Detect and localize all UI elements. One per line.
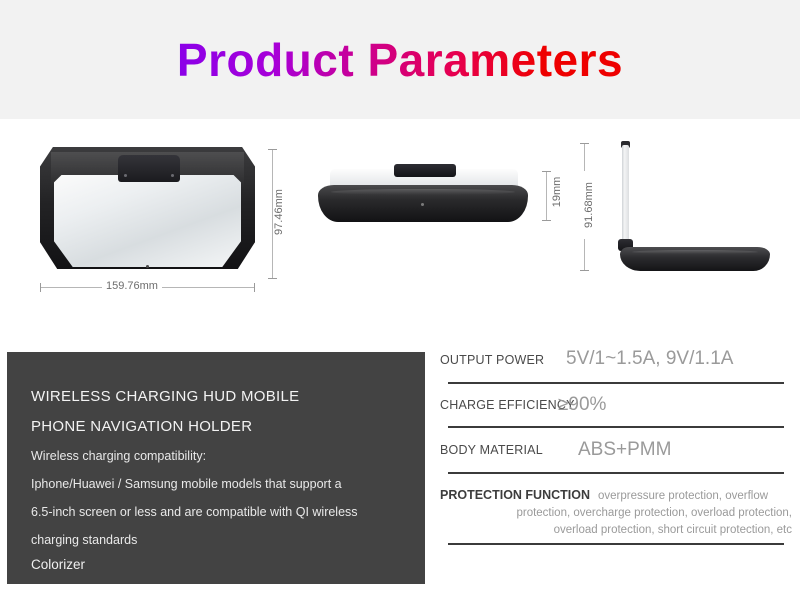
- width-dimension-label: 159.76mm: [102, 280, 162, 292]
- thickness-dimension-line: [546, 171, 547, 221]
- specifications-table: OUTPUT POWER 5V/1~1.5A, 9V/1.1A CHARGE E…: [440, 348, 792, 584]
- front-led-dot-icon: [146, 265, 149, 268]
- hinge-screw-icon: [171, 174, 174, 177]
- description-body-line-2: Iphone/Huawei / Samsung mobile models th…: [31, 470, 425, 498]
- description-body-line-4: charging standards: [31, 526, 425, 554]
- hud-frame-icon: [40, 147, 255, 269]
- dimension-cap-icon: [268, 278, 277, 279]
- dimension-cap-icon: [580, 143, 589, 144]
- folded-tab-icon: [394, 164, 456, 177]
- dimension-cap-icon: [40, 283, 41, 292]
- dimension-cap-icon: [254, 283, 255, 292]
- description-body-line-1: Wireless charging compatibility:: [31, 442, 425, 470]
- description-body-line-3: 6.5-inch screen or less and are compatib…: [31, 498, 425, 526]
- side-height-dimension-label: 91.68mm: [583, 171, 595, 239]
- spec-row-body-material: BODY MATERIAL ABS+PMM: [440, 428, 792, 474]
- spec-value-output-power: 5V/1~1.5A, 9V/1.1A: [566, 348, 733, 370]
- protection-text-line-2: protection, overcharge protection, overl…: [440, 505, 792, 522]
- side-base-icon: [620, 247, 770, 271]
- description-title-line-1: WIRELESS CHARGING HUD MOBILE: [31, 382, 425, 412]
- spec-label-protection-function: PROTECTION FUNCTION: [440, 488, 590, 502]
- product-images-strip: 159.76mm 97.46mm 19mm 91.68mm: [0, 119, 800, 331]
- dimension-cap-icon: [542, 171, 551, 172]
- product-front-view: 159.76mm 97.46mm: [40, 139, 255, 269]
- spec-row-protection-function: PROTECTION FUNCTION overpressure protect…: [440, 474, 792, 545]
- description-colorizer-line: Colorizer: [31, 554, 425, 576]
- hinge-screw-icon: [124, 174, 127, 177]
- spec-label-body-material: BODY MATERIAL: [440, 443, 552, 457]
- page-title: Product Parameters: [177, 33, 623, 87]
- product-side-view: 91.68mm: [600, 141, 770, 269]
- spec-value-charge-efficiency: ≥90%: [558, 394, 606, 416]
- folded-led-dot-icon: [421, 203, 424, 206]
- description-title-line-2: PHONE NAVIGATION HOLDER: [31, 412, 425, 442]
- side-panel-icon: [622, 145, 629, 249]
- thickness-dimension-label: 19mm: [551, 158, 563, 226]
- dimension-cap-icon: [268, 149, 277, 150]
- spec-value-body-material: ABS+PMM: [578, 439, 671, 461]
- dimension-cap-icon: [542, 220, 551, 221]
- spec-divider: [448, 543, 784, 545]
- hud-screen-icon: [54, 175, 241, 267]
- spec-label-charge-efficiency: CHARGE EFFICIENCY: [440, 398, 552, 412]
- spec-row-output-power: OUTPUT POWER 5V/1~1.5A, 9V/1.1A: [440, 348, 792, 384]
- height-dimension-label: 97.46mm: [273, 178, 285, 246]
- spec-row-charge-efficiency: CHARGE EFFICIENCY ≥90%: [440, 384, 792, 428]
- header-banner: Product Parameters: [0, 0, 800, 119]
- protection-text-line-3: overload protection, short circuit prote…: [440, 522, 792, 539]
- protection-text-line-1: overpressure protection, overflow: [598, 488, 768, 505]
- spec-label-output-power: OUTPUT POWER: [440, 353, 552, 367]
- hud-hinge-icon: [118, 155, 180, 182]
- product-description-panel: WIRELESS CHARGING HUD MOBILE PHONE NAVIG…: [7, 352, 425, 584]
- dimension-cap-icon: [580, 270, 589, 271]
- product-folded-view: 19mm: [318, 159, 528, 229]
